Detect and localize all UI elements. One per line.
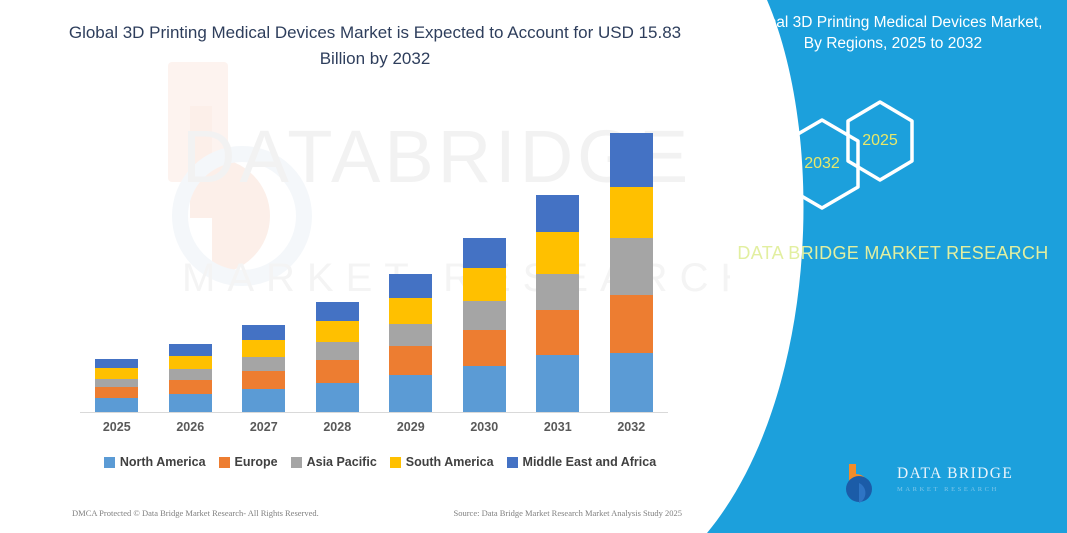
bar-segment <box>169 344 212 356</box>
panel-title: Global 3D Printing Medical Devices Marke… <box>735 12 1051 54</box>
legend-item[interactable]: Middle East and Africa <box>507 455 657 469</box>
page-title: Global 3D Printing Medical Devices Marke… <box>60 20 690 72</box>
bar-segment <box>242 357 285 371</box>
right-panel: Global 3D Printing Medical Devices Marke… <box>647 0 1067 533</box>
data-bridge-logo-icon <box>843 461 889 507</box>
legend-item[interactable]: South America <box>390 455 494 469</box>
stacked-bar-2028 <box>316 302 359 412</box>
legend-swatch-icon <box>291 457 302 468</box>
bar-column <box>374 96 448 412</box>
bar-segment <box>389 274 432 298</box>
x-axis-tick-2030: 2030 <box>448 420 522 434</box>
x-axis-labels: 20252026202720282029203020312032 <box>80 420 668 434</box>
x-axis-tick-2031: 2031 <box>521 420 595 434</box>
x-axis-tick-2025: 2025 <box>80 420 154 434</box>
legend-label: Middle East and Africa <box>523 455 657 469</box>
legend-label: Europe <box>235 455 278 469</box>
bar-segment <box>242 340 285 357</box>
bar-column <box>301 96 375 412</box>
legend-item[interactable]: Asia Pacific <box>291 455 377 469</box>
x-axis-tick-2027: 2027 <box>227 420 301 434</box>
hexagon-label-2025: 2025 <box>841 98 919 184</box>
hexagon-badges: 2032 2025 <box>777 104 1037 206</box>
stacked-bar-2030 <box>463 238 506 412</box>
x-axis-tick-2029: 2029 <box>374 420 448 434</box>
stacked-bar-2027 <box>242 325 285 412</box>
bar-column <box>227 96 301 412</box>
bar-segment <box>463 366 506 412</box>
stacked-bar-2029 <box>389 274 432 412</box>
bar-segment <box>536 310 579 355</box>
bar-segment <box>169 394 212 412</box>
legend-swatch-icon <box>104 457 115 468</box>
bar-segment <box>316 302 359 321</box>
company-logo: DATA BRIDGE MARKET RESEARCH <box>843 459 1043 511</box>
bar-segment <box>316 360 359 383</box>
stacked-bar-2031 <box>536 195 579 412</box>
footer-copyright: DMCA Protected © Data Bridge Market Rese… <box>72 508 319 518</box>
legend-item[interactable]: Europe <box>219 455 278 469</box>
logo-subtitle: MARKET RESEARCH <box>897 486 1013 493</box>
legend-swatch-icon <box>219 457 230 468</box>
legend-label: Asia Pacific <box>307 455 377 469</box>
x-axis-tick-2028: 2028 <box>301 420 375 434</box>
bar-segment <box>95 398 138 412</box>
infographic-canvas: Global 3D Printing Medical Devices Marke… <box>0 0 1067 533</box>
bar-segment <box>463 268 506 301</box>
legend-swatch-icon <box>390 457 401 468</box>
bar-segment <box>95 368 138 379</box>
chart-area: Global 3D Printing Medical Devices Marke… <box>0 0 720 533</box>
bar-segment <box>463 238 506 268</box>
bar-column <box>154 96 228 412</box>
bar-segment <box>536 274 579 310</box>
bar-segment <box>169 356 212 369</box>
bar-group <box>80 96 668 412</box>
bar-column <box>80 96 154 412</box>
bar-segment <box>536 355 579 412</box>
x-axis-line <box>80 412 668 413</box>
stacked-bar-2025 <box>95 359 138 412</box>
legend-item[interactable]: North America <box>104 455 206 469</box>
hexagon-badge-end-year: 2025 <box>841 98 919 184</box>
legend-label: North America <box>120 455 206 469</box>
x-axis-tick-2026: 2026 <box>154 420 228 434</box>
bar-segment <box>242 325 285 340</box>
legend-label: South America <box>406 455 494 469</box>
legend-swatch-icon <box>507 457 518 468</box>
bar-segment <box>95 387 138 398</box>
bar-segment <box>95 379 138 387</box>
bar-segment <box>389 324 432 347</box>
bar-column <box>448 96 522 412</box>
bar-segment <box>389 298 432 324</box>
bar-segment <box>389 375 432 412</box>
stacked-bar-2026 <box>169 344 212 412</box>
plot-region <box>80 96 670 413</box>
logo-text: DATA BRIDGE MARKET RESEARCH <box>897 465 1013 493</box>
brand-name: DATA BRIDGE MARKET RESEARCH <box>735 240 1051 267</box>
bar-segment <box>316 383 359 412</box>
logo-name: DATA BRIDGE <box>897 465 1013 483</box>
bar-segment <box>169 369 212 380</box>
bar-segment <box>242 389 285 412</box>
bar-segment <box>463 301 506 330</box>
bar-segment <box>95 359 138 368</box>
bar-segment <box>316 342 359 360</box>
bar-segment <box>536 232 579 274</box>
footer: DMCA Protected © Data Bridge Market Rese… <box>72 508 682 518</box>
bar-segment <box>463 330 506 366</box>
bar-segment <box>169 380 212 394</box>
bar-segment <box>389 346 432 375</box>
bar-segment <box>316 321 359 342</box>
bar-segment <box>242 371 285 389</box>
bar-segment <box>536 195 579 232</box>
bar-column <box>521 96 595 412</box>
legend: North AmericaEuropeAsia PacificSouth Ame… <box>80 455 680 469</box>
